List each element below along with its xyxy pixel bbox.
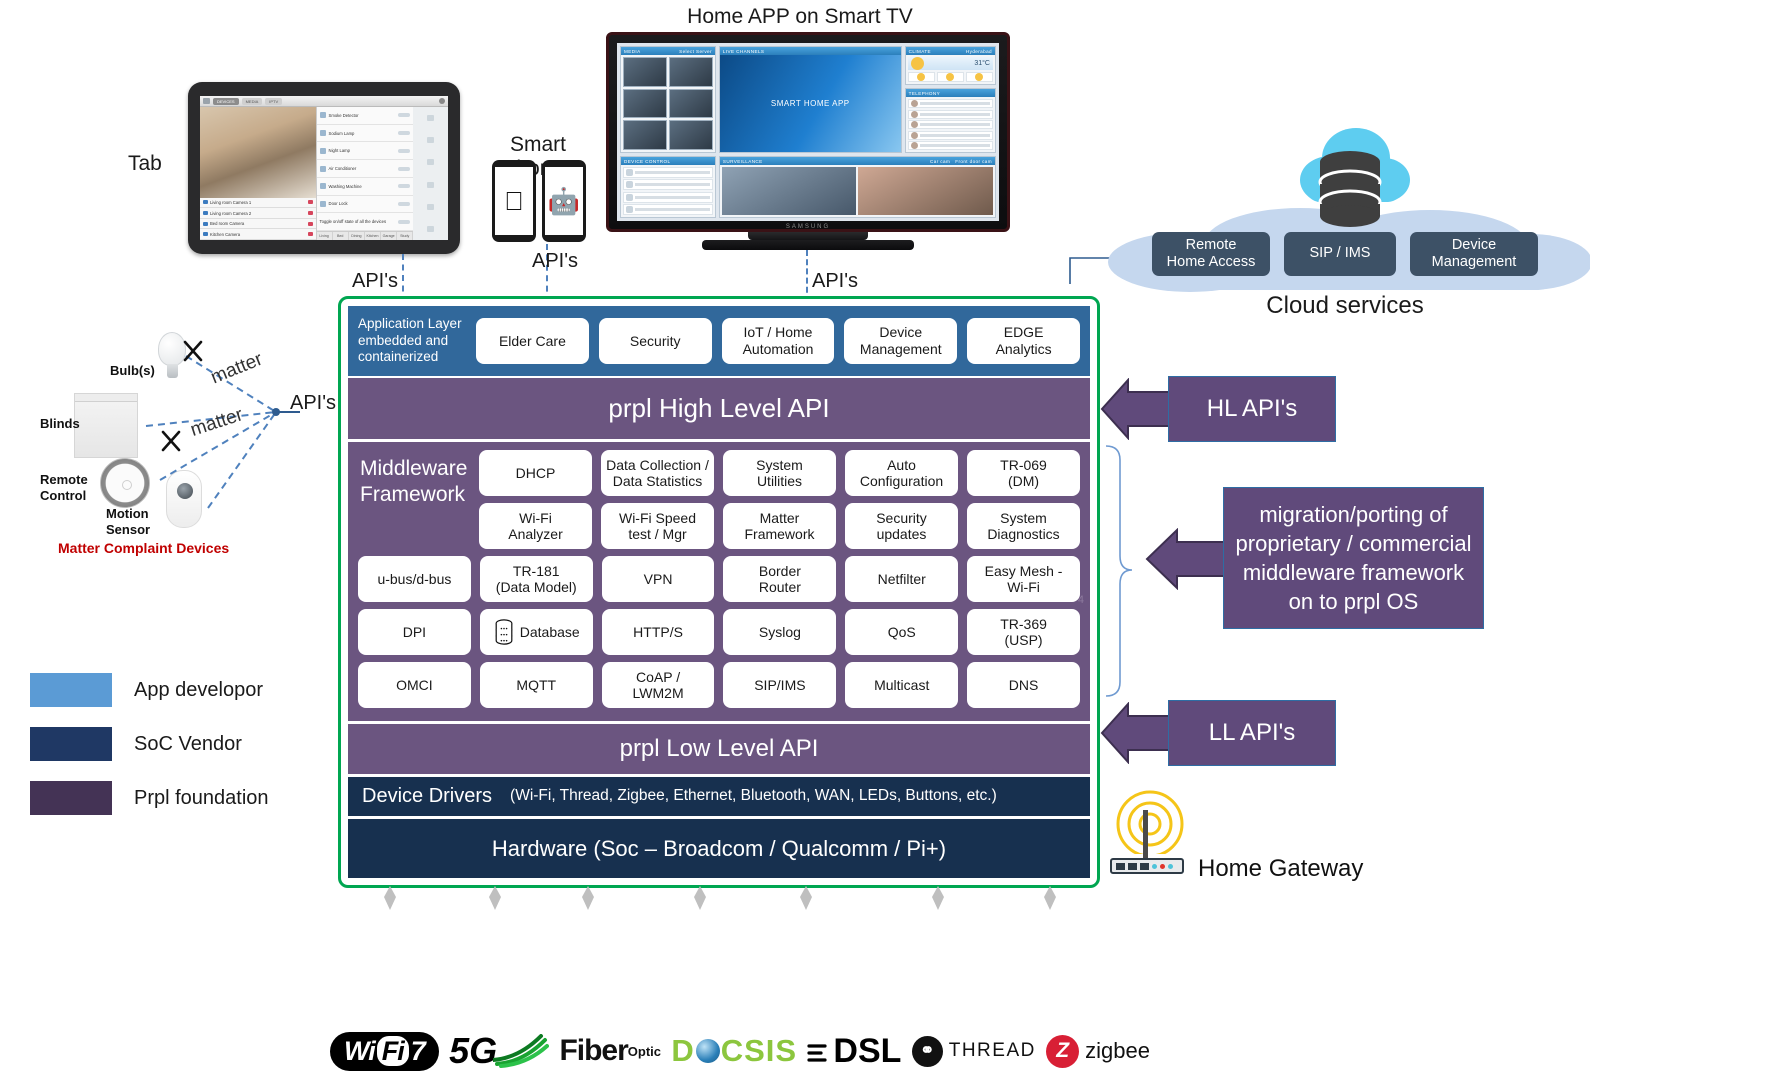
app-box-security[interactable]: Security (599, 318, 712, 364)
tv-panel-live-channels: LIVE CHANNELS SMART HOME APP (719, 46, 902, 153)
tv-caption: Home APP on Smart TV (600, 5, 1000, 29)
application-layer: Application Layer embedded and container… (348, 306, 1090, 376)
list-item[interactable]: Washing Machine (317, 178, 414, 196)
list-item[interactable] (623, 167, 713, 178)
wifi-waves-icon (1112, 782, 1188, 854)
mw-box-sip-ims[interactable]: SIP/IMS (723, 662, 836, 708)
sidebar-item[interactable] (413, 151, 448, 173)
tablet-body: Living room Camera 1 Living room Camera … (200, 107, 448, 240)
toggle[interactable] (398, 113, 410, 117)
tablet-tab-media[interactable]: MEDIA (242, 98, 263, 105)
tv-panel-telephony: TELEPHONY (905, 88, 996, 153)
iphone-device:  (492, 160, 536, 242)
toggle[interactable] (398, 220, 410, 224)
mw-box-data-collection[interactable]: Data Collection / Data Statistics (601, 450, 714, 496)
list-item[interactable] (908, 99, 993, 108)
toggle[interactable] (398, 184, 410, 188)
sidebar-item[interactable] (413, 174, 448, 196)
mw-box-dpi[interactable]: DPI (358, 609, 471, 655)
mw-box-tr-369[interactable]: TR-369 (USP) (967, 609, 1080, 655)
legend-item-prpl-foundation: Prpl foundation (30, 781, 330, 815)
toggle[interactable] (398, 202, 410, 206)
thread-logo: ⚭ THREAD (912, 1028, 1036, 1074)
tab-label: Tab (128, 152, 162, 176)
list-item[interactable]: Door Lock (317, 196, 414, 214)
thread-mark-icon: ⚭ (912, 1036, 943, 1067)
mw-box-security-updates[interactable]: Security updates (845, 503, 958, 549)
list-item[interactable] (623, 204, 713, 215)
list-item[interactable]: Smoke Detector (317, 107, 414, 125)
app-box-edge-analytics[interactable]: EDGE Analytics (967, 318, 1080, 364)
gateway-router-icon (1110, 858, 1184, 874)
apple-icon:  (504, 188, 524, 214)
sun-icon (911, 57, 924, 70)
middleware-framework-layer: Middleware Framework 4 DHCP Data Collect… (348, 439, 1090, 721)
legend-swatch-soc-vendor (30, 727, 112, 761)
fiber-optic-logo: Fiber Optic (559, 1028, 661, 1074)
cloud-services-caption: Cloud services (1180, 292, 1510, 320)
tablet-tabbar: DEVICES MEDIA IPTV (200, 96, 448, 107)
legend-label-soc-vendor: SoC Vendor (134, 733, 242, 756)
mw-box-wifi-analyzer[interactable]: Wi-Fi Analyzer (479, 503, 592, 549)
api-connector-tv (806, 250, 808, 302)
app-box-device-management[interactable]: Device Management (844, 318, 957, 364)
android-device: 🤖 (542, 160, 586, 242)
5g-waves-icon (493, 1034, 549, 1068)
middleware-row-3: u-bus/d-bus TR-181 (Data Model) VPN Bord… (358, 556, 1080, 602)
mw-box-auto-configuration[interactable]: Auto Configuration (845, 450, 958, 496)
mw-box-vpn[interactable]: VPN (602, 556, 715, 602)
android-icon: 🤖 (548, 188, 580, 214)
list-item[interactable]: Living room Camera 2 (200, 208, 316, 219)
api-connector-tab (402, 254, 404, 302)
tv-panel-media: MEDIASelect Server (620, 46, 716, 153)
mw-box-qos[interactable]: QoS (845, 609, 958, 655)
list-item[interactable]: Living room Camera 1 (200, 198, 316, 209)
list-item[interactable]: Sodium Lamp (317, 125, 414, 143)
database-icon (493, 619, 515, 645)
tab-room[interactable]: Study room (397, 232, 413, 240)
tablet-tab-devices[interactable]: DEVICES (213, 98, 239, 105)
mw-box-system-diagnostics[interactable]: System Diagnostics (967, 503, 1080, 549)
cloud-box-remote-home-access[interactable]: Remote Home Access (1152, 232, 1270, 276)
avatar (911, 142, 918, 149)
tablet-device: DEVICES MEDIA IPTV Living room Camera 1 … (188, 82, 460, 254)
matter-glyph-icon-2 (158, 428, 184, 454)
tv-panel-surveillance: SURVEILLANCECar cam Front door cam (719, 156, 996, 218)
mw-box-ubus-dbus[interactable]: u-bus/d-bus (358, 556, 471, 602)
mw-box-mqtt[interactable]: MQTT (480, 662, 593, 708)
list-item[interactable] (908, 131, 993, 140)
toggle[interactable] (398, 167, 410, 171)
database-icon (1312, 150, 1388, 228)
sidebar-item[interactable] (413, 196, 448, 218)
mw-box-multicast[interactable]: Multicast (845, 662, 958, 708)
globe-icon (696, 1039, 720, 1063)
ll-api-arrow (1100, 702, 1174, 764)
mw-box-dns[interactable]: DNS (967, 662, 1080, 708)
cloud-box-device-management[interactable]: Device Management (1410, 232, 1538, 276)
prpl-low-level-api-layer: prpl Low Level API (348, 721, 1090, 773)
tab-room[interactable]: Bed room (333, 232, 349, 240)
bottom-connectors (370, 884, 1190, 914)
tab-room[interactable]: Kitchen (365, 232, 381, 240)
legend-item-soc-vendor: SoC Vendor (30, 727, 330, 761)
migration-arrow (1145, 528, 1229, 590)
mw-box-database-label: Database (520, 624, 580, 641)
smart-tv-device: MEDIASelect Server LIVE CHANNELS SMART H… (606, 32, 1010, 232)
tv-panel-climate: CLIMATEHyderabad 31°C (905, 46, 996, 85)
legend-item-app-developer: App developor (30, 673, 330, 707)
mw-box-syslog[interactable]: Syslog (723, 609, 836, 655)
avatar (911, 121, 918, 128)
sidebar-item[interactable] (413, 107, 448, 129)
api-label-tab: API's (352, 270, 398, 293)
tab-room[interactable]: Living room (317, 232, 333, 240)
dsl-logo: DSL (807, 1028, 901, 1074)
cloud-service-boxes: Remote Home Access SIP / IMS Device Mana… (1152, 232, 1552, 276)
tab-room[interactable]: Garage (381, 232, 397, 240)
mw-box-omci[interactable]: OMCI (358, 662, 471, 708)
mw-box-matter-framework[interactable]: Matter Framework (723, 503, 836, 549)
callout-migration: migration/porting of proprietary / comme… (1223, 487, 1484, 629)
mw-box-easy-mesh-wifi[interactable]: Easy Mesh - Wi-Fi (967, 556, 1080, 602)
list-item[interactable]: Air Conditioner (317, 160, 414, 178)
list-item[interactable]: Bed room Camera (200, 219, 316, 230)
mw-box-border-router[interactable]: Border Router (723, 556, 836, 602)
mw-box-wifi-speed-test[interactable]: Wi-Fi Speed test / Mgr (601, 503, 714, 549)
app-box-iot-home-automation[interactable]: IoT / Home Automation (722, 318, 835, 364)
docsis-logo: DCSIS (671, 1028, 797, 1074)
device-drivers-layer: Device Drivers (Wi-Fi, Thread, Zigbee, E… (348, 774, 1090, 816)
avatar (911, 132, 918, 139)
avatar (911, 100, 918, 107)
home-gateway-label: Home Gateway (1198, 855, 1363, 883)
zigbee-mark-icon: Z (1046, 1035, 1079, 1068)
prpl-high-level-api-layer: prpl High Level API (348, 376, 1090, 440)
tv-stand (748, 232, 868, 240)
device-drivers-list: (Wi-Fi, Thread, Zigbee, Ethernet, Blueto… (510, 787, 997, 805)
tablet-camera-preview (200, 107, 316, 198)
tablet-tab-iptv[interactable]: IPTV (265, 98, 282, 105)
tab-room[interactable]: Dining room (349, 232, 365, 240)
mw-box-https[interactable]: HTTP/S (602, 609, 715, 655)
mw-box-database[interactable]: Database (480, 609, 593, 655)
tablet-device-column: Smoke Detector Sodium Lamp Night Lamp Ai… (317, 107, 414, 240)
list-item[interactable] (623, 179, 713, 190)
legend-label-app-developer: App developor (134, 679, 263, 702)
tablet-sidebar (413, 107, 448, 240)
cloud-box-sip-ims[interactable]: SIP / IMS (1284, 232, 1396, 276)
prpl-stack-container: Application Layer embedded and container… (338, 296, 1100, 888)
5g-logo: 5G (449, 1028, 549, 1074)
mw-box-coap-lwm2m[interactable]: CoAP / LWM2M (602, 662, 715, 708)
sidebar-item[interactable] (413, 129, 448, 151)
legend-label-prpl-foundation: Prpl foundation (134, 787, 269, 810)
list-item[interactable]: Kitchen Camera (200, 229, 316, 240)
app-box-elder-care[interactable]: Elder Care (476, 318, 589, 364)
toggle[interactable] (398, 131, 410, 135)
callout-ll-apis: LL API's (1168, 700, 1336, 766)
api-label-left: API's (290, 392, 336, 415)
middleware-framework-title: Middleware Framework (360, 456, 472, 507)
tablet-camera-column: Living room Camera 1 Living room Camera … (200, 107, 317, 240)
zigbee-logo: Z zigbee (1046, 1028, 1150, 1074)
device-drivers-title: Device Drivers (362, 785, 492, 808)
api-label-tv: API's (812, 270, 858, 293)
list-item[interactable] (908, 110, 993, 119)
hardware-layer: Hardware (Soc – Broadcom / Qualcomm / Pi… (348, 816, 1090, 878)
tv-base (702, 240, 914, 250)
dsl-dash-icon (807, 1037, 833, 1065)
tv-brand: SAMSUNG (609, 224, 1007, 230)
toggle[interactable] (398, 149, 410, 153)
slide-number: 4 (1078, 594, 1084, 606)
api-label-phones: API's (532, 250, 578, 273)
mw-box-tr-069[interactable]: TR-069 (DM) (967, 450, 1080, 496)
mw-box-dhcp[interactable]: DHCP (479, 450, 592, 496)
legend-swatch-app-developer (30, 673, 112, 707)
wifi7-logo: Wi Fi 7WiFi7 (330, 1028, 439, 1074)
tablet-screen: DEVICES MEDIA IPTV Living room Camera 1 … (200, 96, 448, 240)
list-item[interactable] (908, 141, 993, 150)
hl-api-arrow (1100, 378, 1174, 440)
middleware-row-2: Wi-Fi Analyzer Wi-Fi Speed test / Mgr Ma… (358, 503, 1080, 549)
matter-devices-caption: Matter Complaint Devices (58, 540, 229, 556)
tablet-room-tabs: Living room Bed room Dining room Kitchen… (317, 231, 414, 240)
application-layer-title: Application Layer embedded and container… (358, 316, 466, 365)
middleware-row-5: OMCI MQTT CoAP / LWM2M SIP/IMS Multicast… (358, 662, 1080, 708)
mw-box-system-utilities[interactable]: System Utilities (723, 450, 836, 496)
middleware-row-4: DPI Database HTTP/S Syslog QoS TR-369 (U… (358, 609, 1080, 655)
gateway-antenna (1143, 810, 1148, 860)
callout-hl-apis: HL API's (1168, 376, 1336, 442)
list-item[interactable] (908, 120, 993, 129)
protocol-logo-row: Wi Fi 7WiFi7 5G Fiber Optic DCSIS DSL (330, 1025, 1150, 1077)
avatar (911, 111, 918, 118)
mw-box-netfilter[interactable]: Netfilter (845, 556, 958, 602)
gear-icon[interactable] (439, 98, 445, 104)
legend: App developor SoC Vendor Prpl foundation (30, 673, 330, 815)
list-item[interactable]: Night Lamp (317, 142, 414, 160)
toggle-all-row[interactable]: Toggle on/off state of all the devices (317, 213, 414, 231)
legend-swatch-prpl-foundation (30, 781, 112, 815)
tv-screen: MEDIASelect Server LIVE CHANNELS SMART H… (617, 43, 999, 221)
matter-glyph-icon-1 (180, 338, 206, 364)
sidebar-item[interactable] (413, 218, 448, 240)
tv-panel-device-control: DEVICE CONTROL (620, 156, 716, 218)
mw-box-tr-181[interactable]: TR-181 (Data Model) (480, 556, 593, 602)
list-item[interactable] (623, 192, 713, 203)
middleware-bracket (1104, 444, 1134, 700)
